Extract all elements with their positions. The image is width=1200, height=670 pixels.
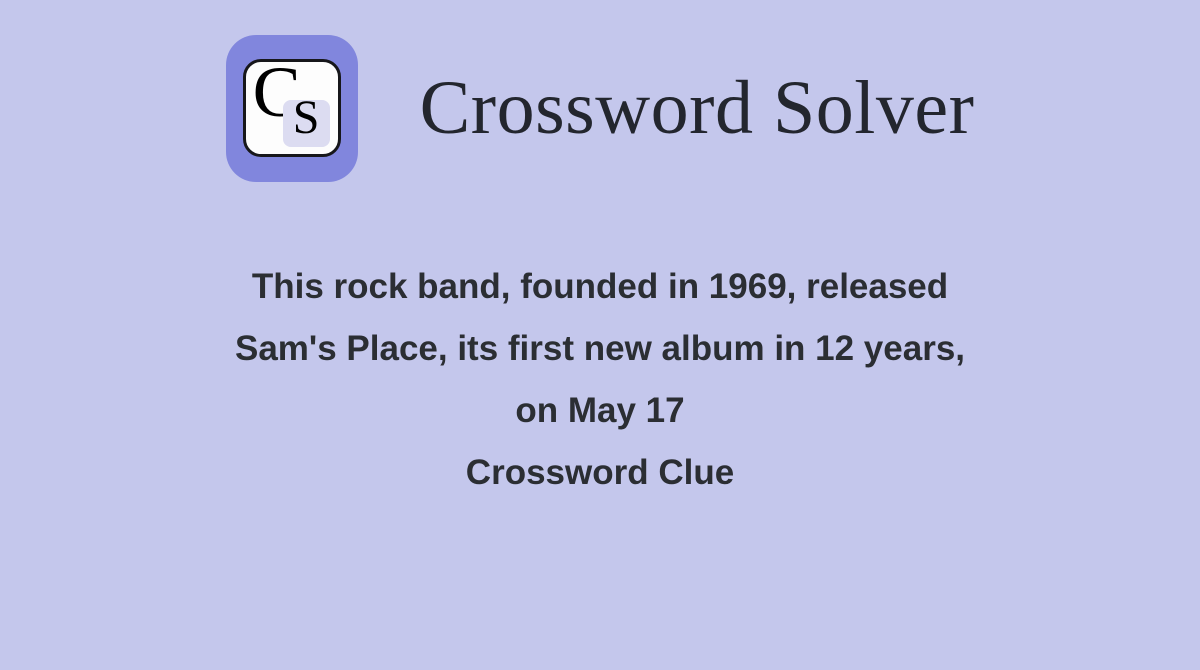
- clue-line: Crossword Clue: [100, 442, 1100, 504]
- clue-line: Sam's Place, its first new album in 12 y…: [100, 318, 1100, 380]
- clue-heading: This rock band, founded in 1969, release…: [100, 256, 1100, 504]
- site-title[interactable]: Crossword Solver: [420, 70, 975, 146]
- logo-tile: C S: [243, 59, 341, 157]
- clue-line: This rock band, founded in 1969, release…: [100, 256, 1100, 318]
- page-root: C S Crossword Solver This rock band, fou…: [0, 0, 1200, 670]
- clue-line: on May 17: [100, 380, 1100, 442]
- logo-letter-s: S: [283, 94, 330, 142]
- crossword-solver-logo-icon[interactable]: C S: [226, 35, 358, 182]
- site-header: C S Crossword Solver: [0, 33, 1200, 183]
- logo-accent-tile: S: [283, 100, 330, 147]
